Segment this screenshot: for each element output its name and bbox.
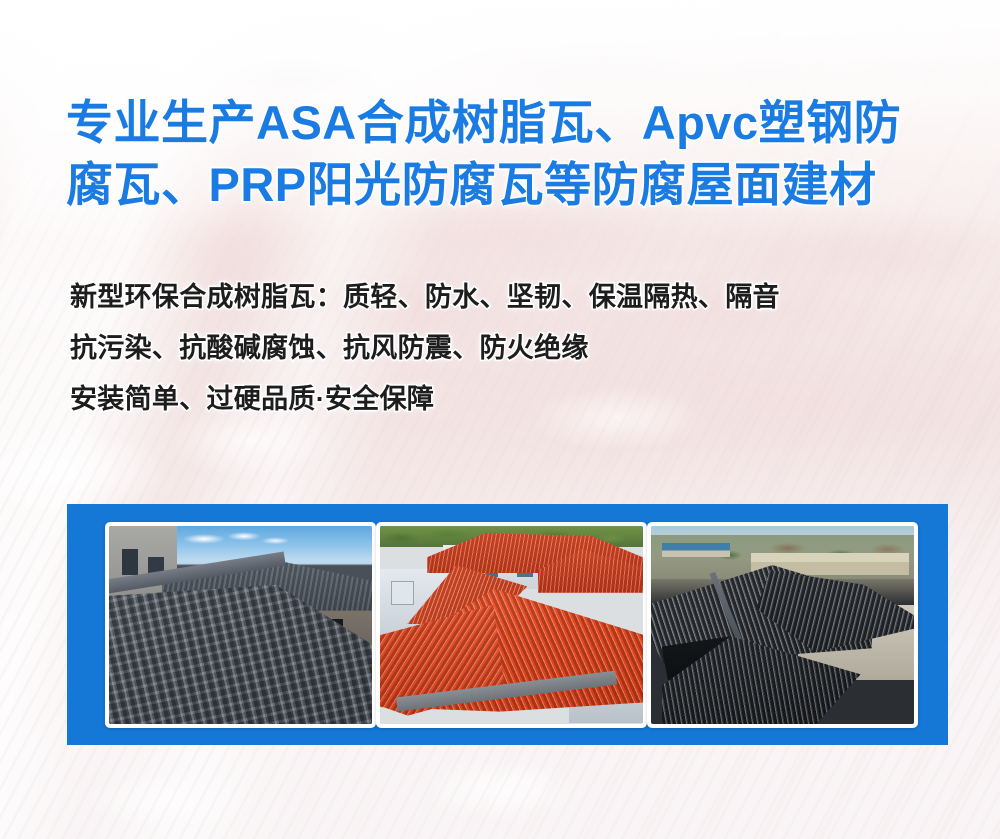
photo1-window-a (122, 549, 138, 575)
grey-resin-tile-roof-image (109, 526, 372, 724)
product-banner: 专业生产ASA合成树脂瓦、Apvc塑钢防 腐瓦、PRP阳光防腐瓦等防腐屋面建材 … (0, 0, 1000, 839)
photo2-window-6 (391, 581, 415, 605)
headline: 专业生产ASA合成树脂瓦、Apvc塑钢防 腐瓦、PRP阳光防腐瓦等防腐屋面建材 (66, 92, 946, 216)
subtitle-block: 新型环保合成树脂瓦：质轻、防水、坚韧、保温隔热、隔音 抗污染、抗酸碱腐蚀、抗风防… (70, 272, 960, 425)
photo1-clouds (183, 529, 288, 547)
headline-line-2: 腐瓦、PRP阳光防腐瓦等防腐屋面建材 (66, 154, 946, 216)
gallery-photo-2[interactable] (376, 522, 647, 728)
red-resin-tile-roof-image (380, 526, 643, 724)
subtitle-line-2: 抗污染、抗酸碱腐蚀、抗风防震、防火绝缘 (70, 323, 960, 374)
photo3-blue-building (662, 543, 730, 557)
photo-gallery-panel (67, 504, 948, 745)
gallery-photo-3[interactable] (647, 522, 918, 728)
headline-line-1: 专业生产ASA合成树脂瓦、Apvc塑钢防 (66, 92, 946, 154)
subtitle-line-1: 新型环保合成树脂瓦：质轻、防水、坚韧、保温隔热、隔音 (70, 272, 960, 323)
subtitle-line-3: 安装简单、过硬品质·安全保障 (70, 374, 960, 425)
gallery-photo-1[interactable] (105, 522, 376, 728)
black-resin-tile-roof-image (651, 526, 914, 724)
